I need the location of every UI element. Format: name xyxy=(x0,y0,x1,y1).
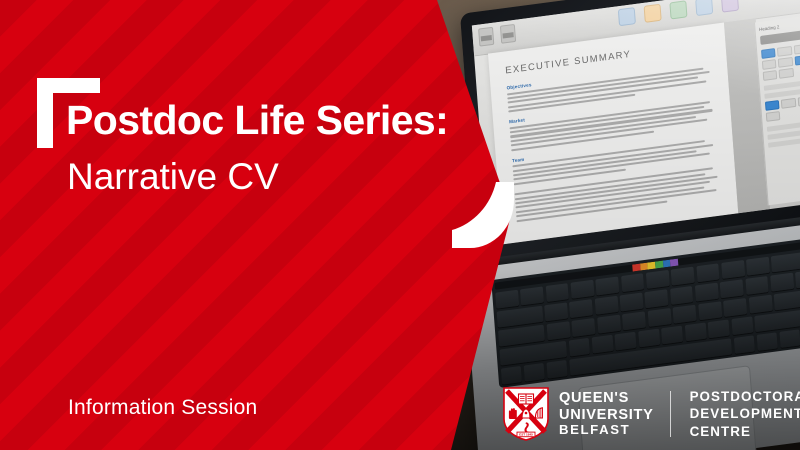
centre-name-line3: CENTRE xyxy=(690,423,800,440)
poster-content: Postdoc Life Series: Narrative CV Inform… xyxy=(0,0,800,450)
centre-name-line2: DEVELOPMENT xyxy=(690,405,800,422)
university-name-line2: UNIVERSITY xyxy=(559,407,654,423)
university-wordmark: QUEEN'S UNIVERSITY BELFAST xyxy=(559,390,654,437)
page-title: Postdoc Life Series: xyxy=(66,100,448,141)
centre-wordmark: POSTDOCTORAL DEVELOPMENT CENTRE xyxy=(690,388,800,439)
logo-divider xyxy=(670,391,671,437)
queens-university-crest-icon: EST 1845 xyxy=(503,387,549,441)
poster-canvas: EXECUTIVE SUMMARY Objectives Market xyxy=(0,0,800,450)
university-name-line3: BELFAST xyxy=(559,423,654,438)
quarter-arc-swoosh xyxy=(452,182,514,248)
bracket-vertical-bar xyxy=(37,78,53,148)
information-session-label: Information Session xyxy=(68,396,257,420)
centre-name-line1: POSTDOCTORAL xyxy=(690,388,800,405)
university-name-line1: QUEEN'S xyxy=(559,390,654,406)
page-subtitle: Narrative CV xyxy=(67,158,279,195)
logo-lockup: EST 1845 QUEEN'S UNIVERSITY BELFAST POST… xyxy=(503,386,800,442)
crest-motto-text: EST 1845 xyxy=(519,433,533,437)
